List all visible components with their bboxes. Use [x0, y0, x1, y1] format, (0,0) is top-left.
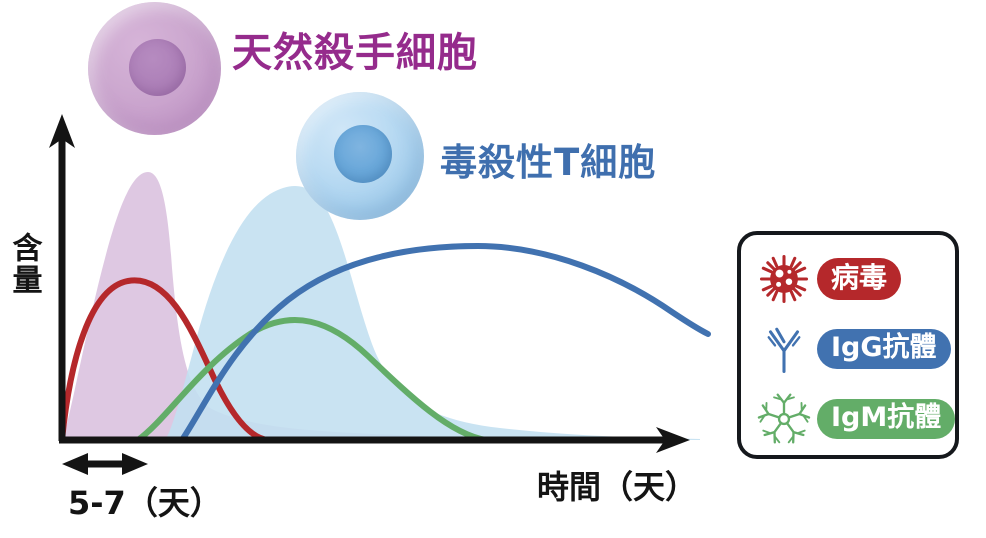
- antibody-pentamer-icon: [757, 391, 811, 447]
- legend-item-virus[interactable]: 病毒: [757, 251, 901, 307]
- legend-label-igm: IgM抗體: [817, 399, 955, 439]
- nk-cell-label: 天然殺手細胞: [232, 20, 478, 78]
- t-cell-nucleus: [334, 125, 392, 183]
- nk-cell-illustration: [88, 2, 221, 135]
- antibody-y-icon: [757, 321, 811, 377]
- area-t-cell: [165, 186, 700, 440]
- y-axis-label: 含量: [8, 232, 40, 296]
- nk-cell-nucleus: [129, 39, 186, 96]
- legend-label-igg: IgG抗體: [817, 329, 951, 369]
- legend-item-igm[interactable]: IgM抗體: [757, 391, 955, 447]
- t-cell-label: 毒殺性T細胞: [440, 132, 656, 186]
- t-cell-illustration: [296, 92, 424, 220]
- legend-item-igg[interactable]: IgG抗體: [757, 321, 951, 377]
- legend-box: 病毒 IgG抗體: [737, 231, 959, 459]
- immune-response-figure: 天然殺手細胞 毒殺性T細胞 含量 時間（天） 5-7（天）: [0, 0, 986, 538]
- duration-label: 5-7（天）: [68, 478, 222, 524]
- x-axis-label: 時間（天）: [537, 462, 697, 508]
- duration-double-arrow: [62, 453, 148, 475]
- virus-icon: [757, 251, 811, 307]
- legend-label-virus: 病毒: [817, 258, 901, 299]
